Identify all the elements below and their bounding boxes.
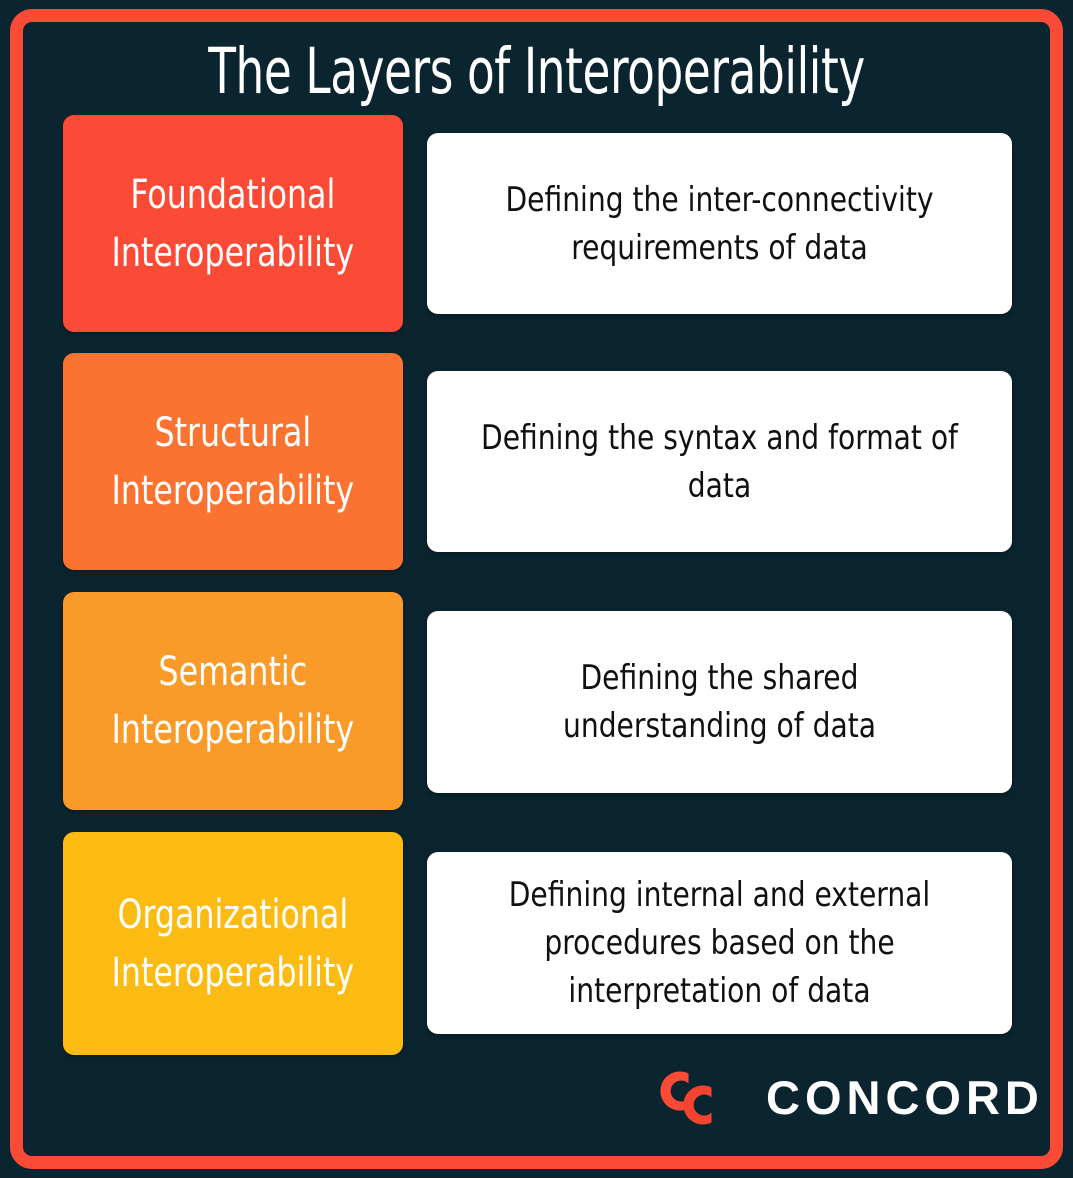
concord-interlocking-rings-icon (652, 1063, 748, 1133)
layer-block-semantic[interactable]: SemanticInteroperability (63, 592, 403, 810)
layer-description-card-organizational[interactable]: Defining internal and external procedure… (427, 852, 1012, 1034)
layer-description-card-foundational[interactable]: Defining the inter-connectivity requirem… (427, 133, 1012, 314)
layer-description-card-semantic[interactable]: Defining the shared understanding of dat… (427, 611, 1012, 793)
page-title: The Layers of Interoperability (107, 36, 965, 108)
layer-block-label: OrganizationalInteroperability (112, 886, 355, 1002)
layer-block-label: FoundationalInteroperability (112, 166, 355, 282)
infographic-canvas: The Layers of Interoperability Foundatio… (0, 0, 1073, 1178)
layer-description-card-structural[interactable]: Defining the syntax and format of data (427, 371, 1012, 552)
layer-block-foundational[interactable]: FoundationalInteroperability (63, 115, 403, 332)
layer-block-organizational[interactable]: OrganizationalInteroperability (63, 832, 403, 1055)
layer-description-text: Defining the inter-connectivity requirem… (474, 176, 964, 272)
layer-row: StructuralInteroperability Defining the … (63, 353, 1012, 570)
concord-wordmark: CONCORD (766, 1073, 1044, 1123)
layer-description-text: Defining the shared understanding of dat… (474, 654, 964, 750)
layer-description-text: Defining the syntax and format of data (474, 414, 964, 510)
layer-row: FoundationalInteroperability Defining th… (63, 115, 1012, 332)
layer-block-label: SemanticInteroperability (112, 643, 355, 759)
layer-row: OrganizationalInteroperability Defining … (63, 832, 1012, 1055)
layer-description-text: Defining internal and external procedure… (474, 871, 964, 1015)
layer-row: SemanticInteroperability Defining the sh… (63, 592, 1012, 810)
layer-block-structural[interactable]: StructuralInteroperability (63, 353, 403, 570)
layer-block-label: StructuralInteroperability (112, 404, 355, 520)
concord-logo[interactable]: CONCORD (652, 1060, 1044, 1136)
